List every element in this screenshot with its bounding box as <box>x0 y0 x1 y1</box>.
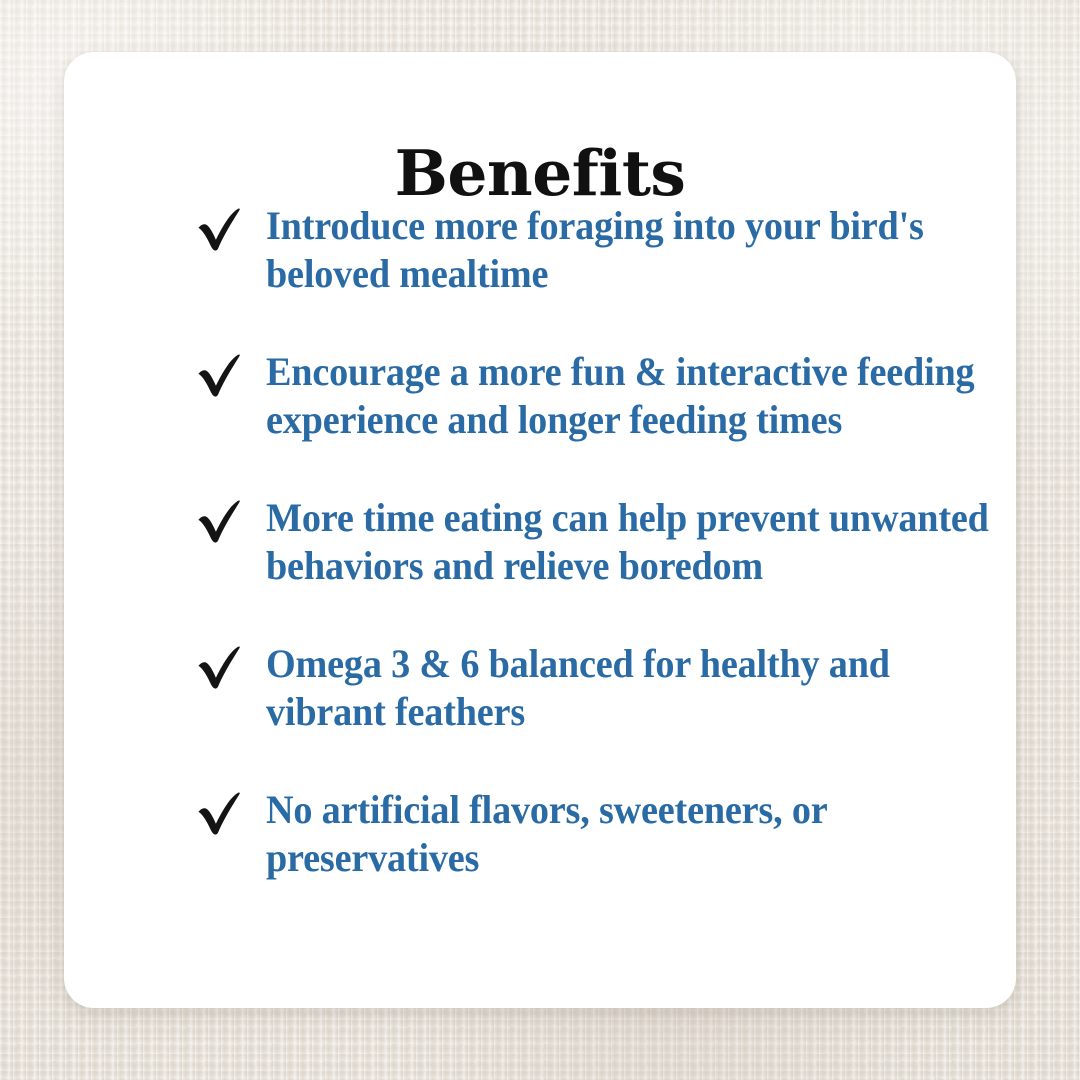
checkmark-icon <box>196 354 242 398</box>
list-item: Encourage a more fun & interactive feedi… <box>138 348 1038 444</box>
benefit-text: No artificial flavors, sweeteners, or pr… <box>266 786 1003 882</box>
benefit-text: More time eating can help prevent unwant… <box>266 494 1003 590</box>
page-title: Benefits <box>64 142 1016 205</box>
checkmark-icon <box>196 500 242 544</box>
list-item: More time eating can help prevent unwant… <box>138 494 1038 590</box>
list-item: Omega 3 & 6 balanced for healthy and vib… <box>138 640 1038 736</box>
checkmark-icon <box>196 208 242 252</box>
benefit-text: Encourage a more fun & interactive feedi… <box>266 348 1003 444</box>
checkmark-icon <box>196 646 242 690</box>
benefits-card: Benefits Introduce more foraging into yo… <box>64 52 1016 1008</box>
benefits-list: Introduce more foraging into your bird's… <box>138 202 1038 882</box>
list-item: No artificial flavors, sweeteners, or pr… <box>138 786 1038 882</box>
benefit-text: Introduce more foraging into your bird's… <box>266 202 1003 298</box>
benefit-text: Omega 3 & 6 balanced for healthy and vib… <box>266 640 1003 736</box>
list-item: Introduce more foraging into your bird's… <box>138 202 1038 298</box>
checkmark-icon <box>196 792 242 836</box>
